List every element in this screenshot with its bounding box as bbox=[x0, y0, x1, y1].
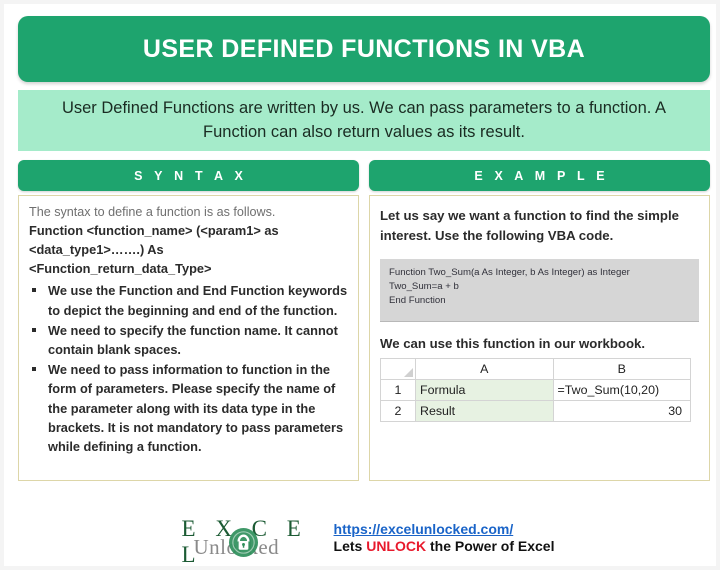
table-row: 2 Result 30 bbox=[381, 400, 691, 421]
vba-code-block: Function Two_Sum(a As Integer, b As Inte… bbox=[380, 259, 699, 322]
cell-b1[interactable]: =Two_Sum(10,20) bbox=[553, 379, 691, 400]
brand-logo: E X C E L Unlocked bbox=[174, 514, 322, 560]
content-columns: S Y N T A X The syntax to define a funct… bbox=[18, 160, 710, 481]
syntax-panel: The syntax to define a function is as fo… bbox=[18, 195, 359, 481]
list-item: We need to specify the function name. It… bbox=[46, 321, 349, 359]
syntax-column: S Y N T A X The syntax to define a funct… bbox=[18, 160, 359, 481]
row-header-1[interactable]: 1 bbox=[381, 379, 416, 400]
syntax-signature-line-1: Function <function_name> (<param1> as bbox=[29, 222, 349, 241]
syntax-signature-line-3: <Function_return_data_Type> bbox=[29, 260, 349, 279]
subtitle-text: User Defined Functions are written by us… bbox=[40, 97, 688, 144]
syntax-signature-line-2: <data_type1>…….) As bbox=[29, 241, 349, 260]
example-lead-text: Let us say we want a function to find th… bbox=[380, 206, 699, 246]
cell-a2[interactable]: Result bbox=[416, 400, 554, 421]
code-line: Function Two_Sum(a As Integer, b As Inte… bbox=[389, 266, 690, 280]
example-section-label: E X A M P L E bbox=[470, 169, 609, 183]
corner-triangle-icon bbox=[404, 368, 413, 377]
cell-b2[interactable]: 30 bbox=[553, 400, 691, 421]
tagline-after: the Power of Excel bbox=[426, 538, 554, 554]
infographic-root: USER DEFINED FUNCTIONS IN VBA User Defin… bbox=[0, 0, 720, 570]
bullet-square-icon bbox=[32, 367, 36, 371]
title-banner: USER DEFINED FUNCTIONS IN VBA bbox=[18, 16, 710, 82]
syntax-section-header: S Y N T A X bbox=[18, 160, 359, 191]
padlock-icon bbox=[228, 527, 259, 558]
cell-a1[interactable]: Formula bbox=[416, 379, 554, 400]
footer: E X C E L Unlocked https://excelunlocked… bbox=[4, 514, 720, 560]
example-section-header: E X A M P L E bbox=[369, 160, 710, 191]
column-header-a[interactable]: A bbox=[416, 358, 554, 379]
column-header-b[interactable]: B bbox=[553, 358, 691, 379]
table-row: 1 Formula =Two_Sum(10,20) bbox=[381, 379, 691, 400]
code-line: End Function bbox=[389, 294, 690, 308]
list-item: We need to pass information to function … bbox=[46, 360, 349, 456]
row-header-2[interactable]: 2 bbox=[381, 400, 416, 421]
website-link[interactable]: https://excelunlocked.com/ bbox=[334, 521, 555, 537]
footer-text-group: https://excelunlocked.com/ Lets UNLOCK t… bbox=[334, 521, 555, 554]
tagline-before: Lets bbox=[334, 538, 367, 554]
bullet-square-icon bbox=[32, 328, 36, 332]
example-column: E X A M P L E Let us say we want a funct… bbox=[369, 160, 710, 481]
syntax-bullet-text: We use the Function and End Function key… bbox=[48, 283, 347, 317]
table-header-row: A B bbox=[381, 358, 691, 379]
syntax-bullet-text: We need to specify the function name. It… bbox=[48, 323, 338, 357]
example-panel: Let us say we want a function to find th… bbox=[369, 195, 710, 481]
list-item: We use the Function and End Function key… bbox=[46, 281, 349, 319]
syntax-section-label: S Y N T A X bbox=[130, 169, 247, 183]
bullet-square-icon bbox=[32, 288, 36, 292]
select-all-corner[interactable] bbox=[381, 358, 416, 379]
syntax-bullet-text: We need to pass information to function … bbox=[48, 362, 343, 454]
workbook-lead-text: We can use this function in our workbook… bbox=[380, 336, 699, 351]
subtitle-banner: User Defined Functions are written by us… bbox=[18, 90, 710, 151]
page-title: USER DEFINED FUNCTIONS IN VBA bbox=[143, 35, 585, 64]
syntax-bullet-list: We use the Function and End Function key… bbox=[29, 281, 349, 456]
tagline-highlight: UNLOCK bbox=[366, 538, 426, 554]
worksheet-table: A B 1 Formula =Two_Sum(10,20) 2 Result 3… bbox=[380, 358, 691, 422]
footer-tagline: Lets UNLOCK the Power of Excel bbox=[334, 538, 555, 554]
code-line: Two_Sum=a + b bbox=[389, 280, 690, 294]
syntax-lead-text: The syntax to define a function is as fo… bbox=[29, 203, 349, 221]
